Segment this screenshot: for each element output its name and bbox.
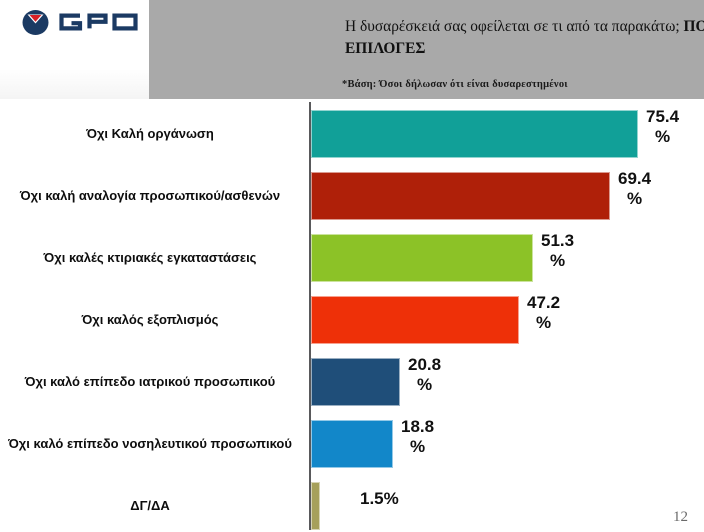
value-label: 18.8 %	[401, 417, 434, 457]
category-label: ΔΓ/ΔΑ	[0, 475, 300, 532]
value-label: 1.5%	[360, 489, 399, 509]
category-label: Όχι καλό επίπεδο νοσηλευτικού προσωπικού	[0, 413, 300, 475]
title-lead: Η δυσαρέσκειά σας οφείλεται σε τι από τα…	[345, 18, 684, 35]
chart-row: ΔΓ/ΔΑ 1.5%	[0, 475, 704, 532]
category-label: Όχι καλή αναλογία προσωπικού/ασθενών	[0, 165, 300, 227]
header-logo-area	[0, 0, 149, 99]
value-label: 69.4 %	[618, 169, 651, 209]
chart-row: Όχι καλή αναλογία προσωπικού/ασθενών 69.…	[0, 165, 704, 227]
bar-segment[interactable]	[311, 420, 393, 468]
value-label: 51.3 %	[541, 231, 574, 271]
value-label: 20.8 %	[408, 355, 441, 395]
chart-row: Όχι Καλή οργάνωση 75.4 %	[0, 103, 704, 165]
chart-row: Όχι καλό επίπεδο ιατρικού προσωπικού 20.…	[0, 351, 704, 413]
category-label: Όχι Καλή οργάνωση	[0, 103, 300, 165]
subtitle-base-note: *Βάση: Όσοι δήλωσαν ότι είναι δυσαρεστημ…	[342, 79, 704, 90]
slide: Η δυσαρέσκειά σας οφείλεται σε τι από τα…	[0, 0, 704, 532]
bar-segment[interactable]	[311, 234, 533, 282]
category-label: Όχι καλός εξοπλισμός	[0, 289, 300, 351]
header-band: Η δυσαρέσκειά σας οφείλεται σε τι από τα…	[149, 0, 704, 99]
category-label: Όχι καλές κτιριακές εγκαταστάσεις	[0, 227, 300, 289]
gpo-logo	[22, 6, 140, 38]
bar-segment[interactable]	[311, 358, 400, 406]
page-title: Η δυσαρέσκειά σας οφείλεται σε τι από τα…	[345, 16, 704, 60]
bar-segment[interactable]	[311, 110, 638, 158]
chart-row: Όχι καλός εξοπλισμός 47.2 %	[0, 289, 704, 351]
gpo-shield-icon	[22, 9, 49, 36]
bar-segment[interactable]	[311, 482, 320, 530]
bar-segment[interactable]	[311, 296, 519, 344]
page-number: 12	[673, 509, 688, 526]
chart-row: Όχι καλό επίπεδο νοσηλευτικού προσωπικού…	[0, 413, 704, 475]
bar-segment[interactable]	[311, 172, 610, 220]
value-label: 75.4 %	[646, 107, 679, 147]
chart-row: Όχι καλές κτιριακές εγκαταστάσεις 51.3 %	[0, 227, 704, 289]
category-label: Όχι καλό επίπεδο ιατρικού προσωπικού	[0, 351, 300, 413]
gpo-wordmark	[56, 10, 140, 34]
bar-chart: Όχι Καλή οργάνωση 75.4 % Όχι καλή αναλογ…	[0, 99, 704, 532]
value-label: 47.2 %	[527, 293, 560, 333]
